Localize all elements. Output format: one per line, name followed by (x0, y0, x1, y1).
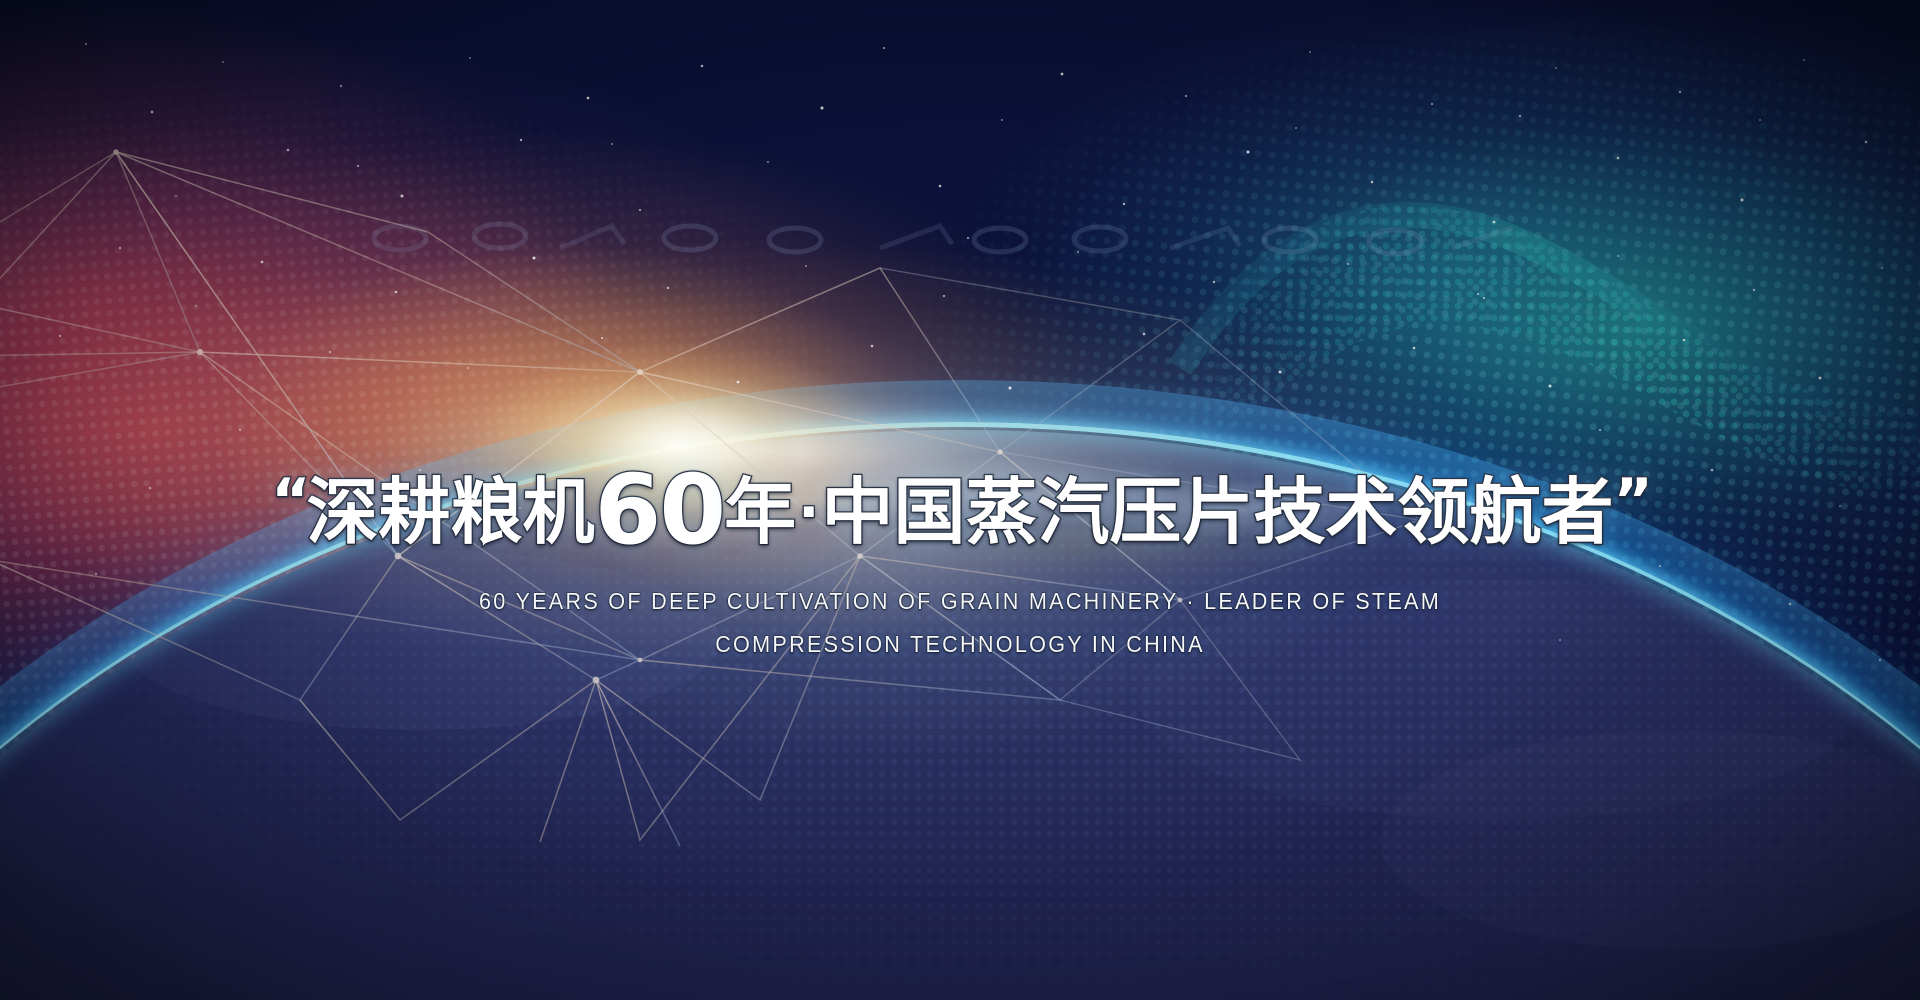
headline-slogan: “深耕粮机60年·中国蒸汽压片技术领航者” (0, 462, 1920, 560)
close-quote: ” (1613, 466, 1648, 536)
headline-part-three: 中国蒸汽压片技术领航者 (821, 470, 1613, 554)
open-quote: “ (271, 466, 306, 536)
headline-part-two: 年 (724, 470, 796, 554)
subtitle-line-2: COMPRESSION TECHNOLOGY IN CHINA (58, 631, 1863, 658)
headline-number: 60 (595, 454, 725, 566)
banner-text-block: “深耕粮机60年·中国蒸汽压片技术领航者” 60 YEARS OF DEEP C… (0, 462, 1920, 658)
subtitle-line-1: 60 YEARS OF DEEP CULTIVATION OF GRAIN MA… (58, 588, 1863, 615)
headline-part-one: 深耕粮机 (307, 470, 595, 554)
headline-separator: · (796, 480, 821, 545)
banner-root: “深耕粮机60年·中国蒸汽压片技术领航者” 60 YEARS OF DEEP C… (0, 0, 1920, 1000)
